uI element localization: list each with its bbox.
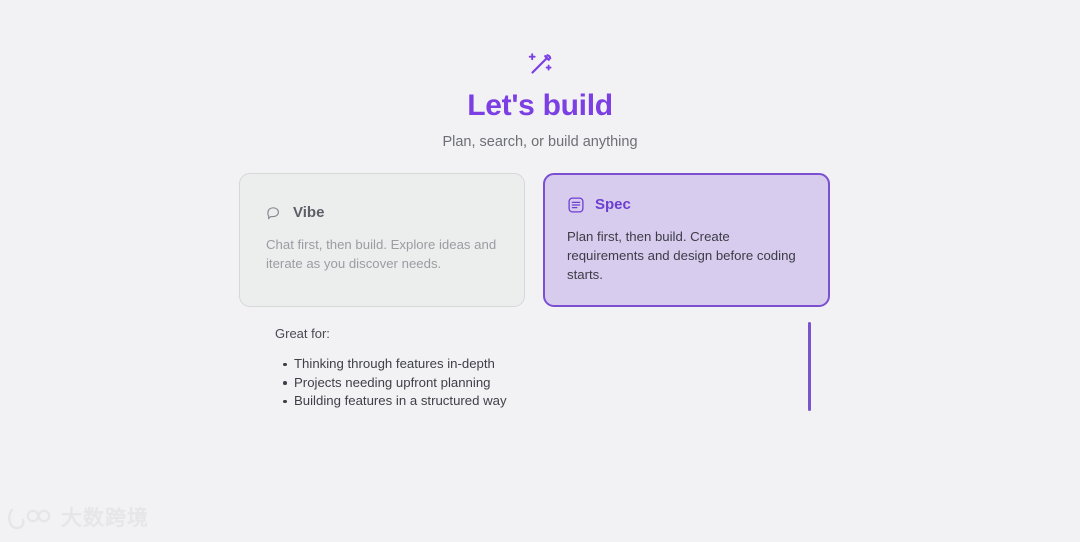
mode-card-spec[interactable]: Spec Plan first, then build. Create requ…: [543, 173, 830, 307]
list-item: Building features in a structured way: [275, 392, 715, 411]
vertical-accent-bar: [808, 322, 811, 411]
list-item: Thinking through features in-depth: [275, 355, 715, 374]
mode-card-vibe[interactable]: Vibe Chat first, then build. Explore ide…: [239, 173, 525, 307]
magic-wand-icon: [523, 48, 557, 82]
great-for-label: Great for:: [275, 325, 715, 342]
app-root: Let's build Plan, search, or build anyth…: [0, 0, 1080, 542]
page-subtitle: Plan, search, or build anything: [0, 133, 1080, 151]
mode-card-vibe-header: Vibe: [266, 204, 498, 222]
mode-card-vibe-title: Vibe: [293, 204, 324, 222]
speech-bubble-icon: [266, 205, 283, 222]
page-header: Let's build Plan, search, or build anyth…: [0, 48, 1080, 151]
list-item: Projects needing upfront planning: [275, 374, 715, 393]
great-for-list: Thinking through features in-depth Proje…: [275, 355, 715, 411]
dashu-logo-icon: [8, 506, 52, 532]
document-lines-icon: [567, 196, 585, 214]
mode-card-spec-title: Spec: [595, 196, 631, 214]
mode-card-spec-header: Spec: [567, 196, 806, 214]
mode-card-vibe-description: Chat first, then build. Explore ideas an…: [266, 235, 498, 273]
mode-card-spec-description: Plan first, then build. Create requireme…: [567, 227, 806, 284]
watermark: 大数跨境: [8, 506, 149, 532]
watermark-text: 大数跨境: [61, 507, 149, 531]
mode-card-group: Vibe Chat first, then build. Explore ide…: [239, 173, 830, 307]
great-for-section: Great for: Thinking through features in-…: [275, 325, 715, 411]
page-title: Let's build: [0, 88, 1080, 124]
